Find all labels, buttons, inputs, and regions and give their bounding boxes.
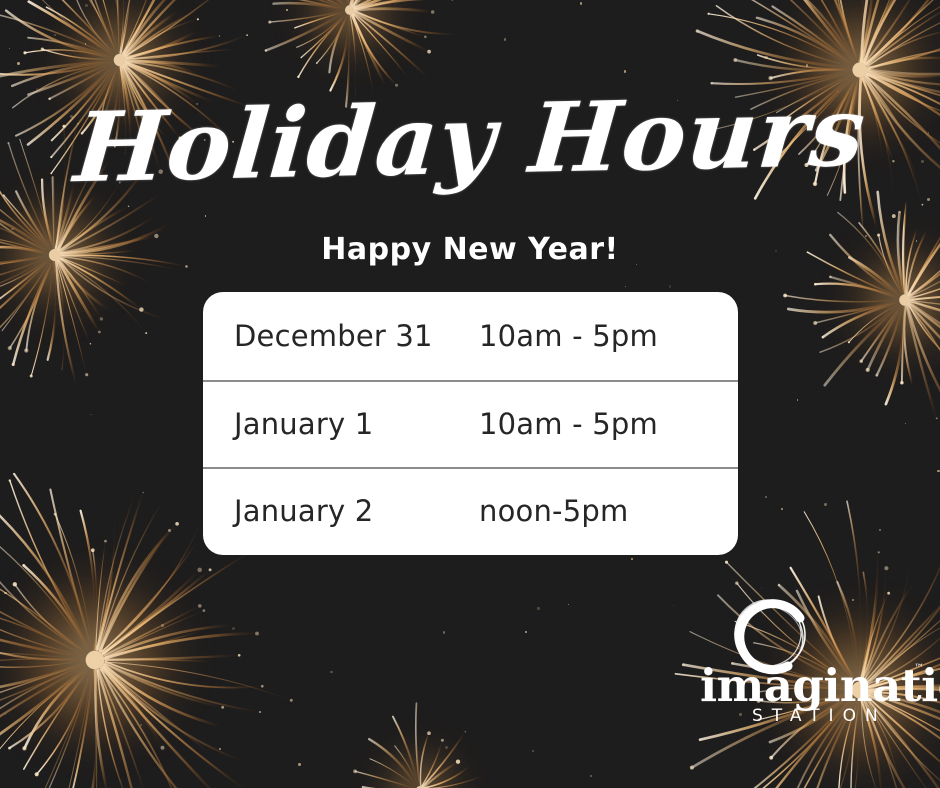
title-container: Holiday Hours — [0, 92, 940, 188]
ember-spark — [85, 43, 87, 45]
ember-spark — [765, 496, 767, 498]
ember-spark — [781, 508, 783, 510]
ember-spark — [927, 198, 930, 201]
ember-spark — [4, 592, 7, 595]
ember-spark — [764, 56, 767, 59]
ember-spark — [625, 286, 626, 287]
ember-spark — [5, 713, 6, 714]
ember-spark — [330, 671, 333, 674]
hours-row-day: January 2 — [234, 494, 479, 528]
ember-spark — [590, 775, 593, 778]
ember-spark — [286, 9, 288, 11]
hours-row-time: 10am - 5pm — [479, 319, 658, 353]
ember-spark — [504, 38, 506, 40]
ember-spark — [624, 70, 627, 73]
ember-spark — [17, 62, 20, 65]
ember-spark — [140, 724, 142, 726]
ember-spark — [537, 607, 539, 609]
page-title: Holiday Hours — [71, 84, 869, 196]
hours-row-day: December 31 — [234, 319, 479, 353]
ember-spark — [232, 627, 235, 630]
ember-spark — [631, 558, 633, 560]
hours-row-day: January 1 — [234, 407, 479, 441]
hours-card: December 3110am - 5pmJanuary 110am - 5pm… — [203, 292, 738, 555]
ember-spark — [36, 88, 38, 90]
ember-spark — [568, 604, 570, 606]
ember-spark — [937, 470, 940, 473]
hours-row-time: noon-5pm — [479, 494, 628, 528]
ember-spark — [54, 34, 56, 36]
ember-spark — [797, 399, 798, 400]
logo-tagline: STATION — [752, 708, 887, 725]
ember-spark — [806, 64, 808, 66]
imagination-station-logo[interactable]: imagination ™ STATION — [700, 588, 932, 728]
ember-spark — [85, 4, 87, 6]
ember-spark — [905, 423, 906, 424]
ember-spark — [580, 2, 583, 5]
page-subtitle: Happy New Year! — [321, 232, 618, 267]
table-row: January 2noon-5pm — [203, 467, 738, 555]
table-row: December 3110am - 5pm — [203, 292, 738, 380]
ember-spark — [673, 605, 674, 606]
ember-spark — [219, 748, 221, 750]
ember-spark — [205, 215, 207, 217]
ember-spark — [445, 746, 448, 749]
logo-wordmark: imagination — [700, 666, 932, 706]
holiday-hours-poster: Holiday Hours Happy New Year! December 3… — [0, 0, 940, 788]
subtitle-container: Happy New Year! — [0, 232, 940, 267]
ember-spark — [90, 414, 91, 415]
ember-spark — [669, 285, 671, 287]
ember-spark — [879, 529, 881, 531]
burst-bottom-center — [290, 660, 550, 788]
ember-spark — [824, 503, 827, 506]
ember-spark — [443, 631, 445, 633]
hours-row-time: 10am - 5pm — [479, 407, 658, 441]
ember-spark — [161, 624, 164, 627]
ember-spark — [298, 763, 301, 766]
ember-spark — [532, 750, 534, 752]
table-row: January 110am - 5pm — [203, 380, 738, 468]
trademark-icon: ™ — [914, 664, 924, 674]
ember-spark — [525, 631, 527, 633]
ember-spark — [9, 48, 10, 49]
ember-spark — [11, 228, 14, 231]
